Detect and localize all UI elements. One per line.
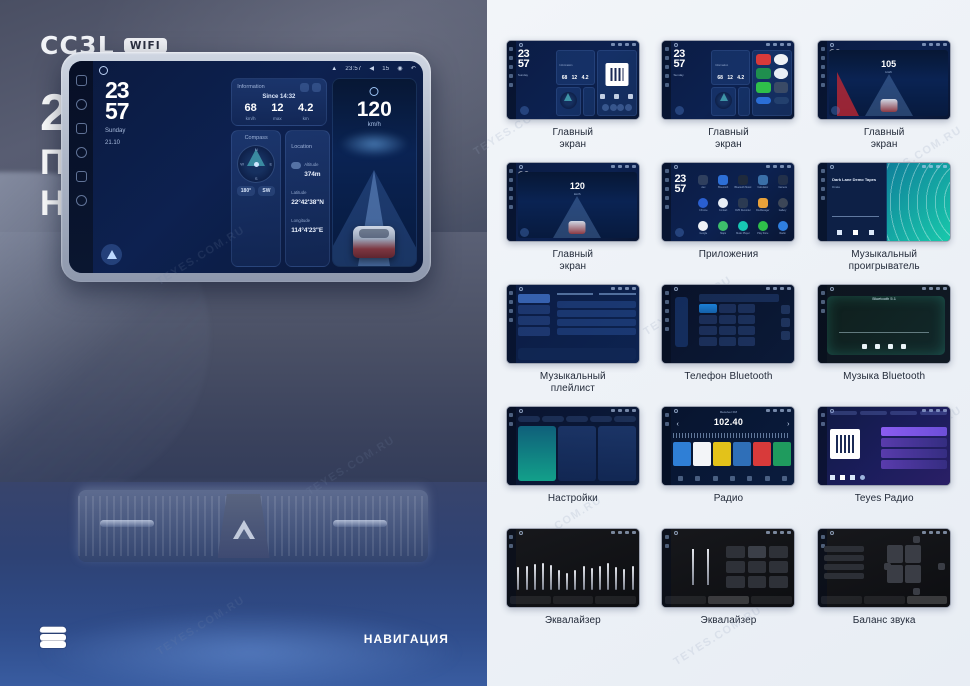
caption-line1: Баланс звука [853,615,916,626]
thumbnail-apps[interactable]: 2357 Aux Bluetooth Bluetooth Music Calcu… [661,162,795,242]
mini-speed-unit: km/h [885,70,892,74]
mini-speed-value: 120 [570,181,585,191]
preset-tile[interactable] [748,546,767,558]
widget-column-left: 23 57 Sunday 21.10 [99,78,226,267]
app-label: Contact [719,209,727,212]
caption-line2: плейлист [551,383,595,394]
play-pause-icon[interactable] [875,344,880,349]
layers-icon[interactable] [40,626,66,648]
tab[interactable] [890,411,917,415]
dialpad-key-4[interactable] [699,315,716,324]
mini-speed-unit: km/h [574,192,581,196]
trip-stat-distance: 4.2 km [298,103,313,121]
app-icon[interactable] [774,82,789,93]
preset-2[interactable] [693,442,711,466]
tab[interactable] [599,293,635,295]
next-icon[interactable] [869,230,874,235]
mini-nav-button[interactable] [520,106,529,115]
car-3d-model [353,226,395,258]
progress-bar[interactable] [832,216,879,217]
information-header: Information [237,83,320,92]
speaker-balance-pad[interactable] [887,545,921,583]
caption-line2: экран [560,261,587,272]
next-icon[interactable] [850,475,855,480]
dialpad-key-8[interactable] [719,326,736,335]
car-interior-backdrop [0,232,487,686]
thumbnail-radio[interactable]: Receiver FM 102.40 ‹ › [661,406,795,486]
radio-presets[interactable] [673,442,791,466]
dialpad-key-1[interactable] [699,304,716,313]
dialpad-key-3[interactable] [738,304,755,313]
longitude-value: 114°4'23"E [291,227,324,234]
app-icon[interactable] [774,68,789,79]
app-label: Google [700,232,708,235]
thumbnail-home-apps[interactable]: 2357Sunday Information68124.2 [661,40,795,120]
app-tile: FileManager [754,195,772,216]
gallery-item[interactable]: 2357 Aux Bluetooth Bluetooth Music Calcu… [651,162,807,284]
hazard-triangle-icon [233,520,255,539]
bt-music-controls[interactable] [818,344,950,349]
stat-unit: km [298,116,313,121]
wifi-card[interactable] [518,426,556,481]
mini-nav-button[interactable] [520,228,529,237]
mini-clock-minutes: 57 [518,60,554,70]
next-icon[interactable] [628,94,633,99]
thumbnail-equalizer-bars[interactable] [506,528,640,608]
tab-eq[interactable] [665,596,706,604]
playlist-tabs[interactable] [557,293,636,298]
trip-stats: 68 km/h 12 max 4.2 km [237,103,320,121]
information-refresh-icon[interactable] [312,83,321,92]
station-artwork [830,429,860,459]
dialpad-key-6[interactable] [738,315,755,324]
navigation-button[interactable] [101,244,122,265]
head-unit-device: ▲ 23:57 ◀ 15 ◉ ↶ 23 57 Sunda [61,52,431,282]
next-icon[interactable] [901,344,906,349]
teyes-radio-controls[interactable] [830,475,865,480]
compass-title: Compass [245,135,268,141]
tab-about[interactable] [614,416,636,422]
gallery-item[interactable]: Teyes Радио [806,406,962,528]
station-row[interactable] [881,449,947,458]
app-label: Radio [779,232,785,235]
prev-icon[interactable] [837,230,842,235]
track-list[interactable] [557,301,636,335]
search-icon[interactable] [695,476,700,481]
stat-unit: km/h [244,116,256,121]
balance-presets[interactable] [824,546,864,579]
app-icon[interactable] [774,54,789,65]
tab-balance[interactable] [708,596,749,604]
backspace-icon[interactable] [781,318,790,327]
tab-reset[interactable] [907,596,948,604]
cloud-icon [291,162,301,169]
app-tile: Contact [714,195,732,216]
tab[interactable] [830,411,857,415]
compass-direction: SW [258,186,276,196]
speed-icon [370,87,379,96]
station-row[interactable] [881,460,947,469]
radio-band-label: Receiver FM [720,410,737,414]
caption-line1: Приложения [699,249,759,260]
app-label: Gallery [779,209,787,212]
navigation-arrow-icon [107,250,117,259]
app-tile: Maps [714,217,732,238]
track-row[interactable] [557,328,636,335]
phone-side-nav[interactable] [675,297,688,347]
dialpad-key-hash[interactable] [738,337,755,346]
gallery-item[interactable]: Музыкальныйплейлист [495,284,651,406]
preset-tile[interactable] [769,546,788,558]
preset-3[interactable] [713,442,731,466]
slider[interactable] [692,549,694,585]
dialpad-key-5[interactable] [719,315,736,324]
station-list[interactable] [881,427,947,469]
gallery-item[interactable]: Эквалайзер [651,528,807,650]
dialpad-key-0[interactable] [719,337,736,346]
dialpad-key-9[interactable] [738,326,755,335]
thumbnail-home-media[interactable]: 2357Sunday Information68124.2 [506,40,640,120]
app-tile: Google [694,217,712,238]
stat-value: 68 [244,103,256,114]
phone-actions[interactable] [781,305,790,340]
mini-stat: 4.2 [582,75,589,81]
gallery-item[interactable]: Телефон Bluetooth [651,284,807,406]
category-item[interactable] [518,316,550,325]
tab-wifi[interactable] [518,416,540,422]
dialpad[interactable] [699,304,754,346]
category-item[interactable] [518,294,550,303]
gallery-item[interactable]: Receiver FM 102.40 ‹ › Радио [651,406,807,528]
thumbnail-teyes-radio[interactable] [817,406,951,486]
thumbnail-home-drive[interactable]: 2357Sunday Information68124.2 105km/h [817,40,951,120]
app-icon[interactable] [756,54,771,65]
track-row[interactable] [557,301,636,308]
preset-5[interactable] [753,442,771,466]
list-icon[interactable] [713,476,718,481]
teyes-radio-tabs[interactable] [830,411,947,416]
longitude-label: Longitude [291,218,310,223]
tab-display[interactable] [566,416,588,422]
speed-value: 120 [357,99,392,120]
preset-tile[interactable] [726,561,745,573]
trip-since: Since 14:32 [237,94,320,100]
thumbnail-caption: Главныйэкран [708,127,749,151]
settings-tabs[interactable] [518,416,636,422]
compass-center-dot [254,162,259,167]
car-3d-model [569,221,586,234]
play-icon[interactable] [614,94,619,99]
tab-reset[interactable] [751,596,792,604]
thumbnail-sound-balance[interactable] [817,528,951,608]
mini-speed-value: 105 [881,59,896,69]
back-icon[interactable]: ↶ [411,65,416,72]
preset-grid[interactable] [726,546,788,588]
information-title: Information [237,84,265,90]
caption-line2: проигрыватель [849,261,920,272]
car-3d-model [880,99,897,112]
preset-row[interactable] [824,555,864,561]
volume-icon: ◀ [369,65,374,72]
caption-line1: Главный [864,127,905,138]
thumbnail-bluetooth-music[interactable]: Bluetooth 5.1 [817,284,951,364]
preset-tile[interactable] [769,576,788,588]
thumbnail-caption: Эквалайзер [545,615,601,627]
gallery-item[interactable]: 2357Sunday Information68124.2 Главныйэкр… [495,40,651,162]
app-label: DVR Recorder [735,209,751,212]
rail-power-icon[interactable] [76,195,87,206]
app-label: Camera [778,186,787,189]
app-label: Music Player [736,232,750,235]
road-warning-wedge [837,72,859,116]
tune-down-icon[interactable]: ‹ [676,421,678,428]
radio-frequency: 102.40 [714,417,743,427]
thumbnail-playlist[interactable] [506,284,640,364]
tab-eq[interactable] [821,596,862,604]
speed-unit: km/h [368,122,381,128]
progress-bar[interactable] [839,332,929,333]
balance-up-button[interactable] [913,536,920,543]
mini-stat: 12 [572,75,578,81]
location-title: Location [291,144,312,150]
station-row[interactable] [881,438,947,447]
balance-down-button[interactable] [913,588,920,595]
mini-info-title: Information [560,64,573,67]
clock-date: 21.10 [105,139,222,147]
preset-6[interactable] [773,442,791,466]
gallery-item[interactable]: Настройки [495,406,651,528]
call-icon[interactable] [781,331,790,340]
app-tile: Play Store [754,217,772,238]
equalizer-tabs[interactable] [510,596,636,604]
wifi-badge: WIFI [124,38,167,54]
mini-info-title: Information [715,64,728,67]
track-title: Dark Lane Demo Tapes [832,177,881,182]
thumbnail-home-drive2[interactable]: 2357Sunday Information68124.2 120km/h [506,162,640,242]
caption-line1: Главный [708,127,749,138]
rail-menu-icon[interactable] [76,75,87,86]
home-icon[interactable] [99,66,108,75]
caption-line1: Эквалайзер [545,615,601,626]
equalizer-sliders[interactable] [517,551,633,590]
vent-slot-left [100,520,154,527]
slider[interactable] [707,549,709,585]
track-row[interactable] [557,310,636,317]
thumbnail-bluetooth-phone[interactable] [661,284,795,364]
gallery-item[interactable]: Dark Lane Demo Tapes Drake Музыкальныйпр… [806,162,962,284]
altitude-label: Altitude [304,162,318,167]
equalizer-tabs[interactable] [821,596,947,604]
tab-system[interactable] [590,416,612,422]
balance-right-button[interactable] [938,563,945,570]
app-tile: Bluetooth Music [734,172,752,193]
rail-home-icon[interactable] [76,99,87,110]
widget-column-right: 120 km/h [332,78,417,267]
app-tile: Calculator [754,172,772,193]
tune-up-icon[interactable]: › [787,421,789,428]
clock-widget: 23 57 Sunday 21.10 [99,78,226,147]
tab[interactable] [557,293,593,295]
rail-back-icon[interactable] [76,171,87,182]
gallery-item[interactable]: 2357Sunday Information68124.2 [651,40,807,162]
dialed-number-field[interactable] [699,294,778,302]
app-tile: Chrome [694,195,712,216]
latitude-label: Latitude [291,190,306,195]
prev-icon[interactable] [830,475,835,480]
rail-volume-icon[interactable] [76,147,87,158]
app-tile: Radio [774,217,792,238]
preset-row[interactable] [824,573,864,579]
app-label: Aux [701,186,705,189]
stereo-icon[interactable] [747,476,752,481]
tab-eq[interactable] [510,596,551,604]
preset-tile[interactable] [769,561,788,573]
head-unit-screen[interactable]: ▲ 23:57 ◀ 15 ◉ ↶ 23 57 Sunda [69,61,423,273]
thumbnail-equalizer-simple[interactable] [661,528,795,608]
media-controls[interactable] [598,94,636,99]
radio-toolbar[interactable] [673,475,791,482]
app-label: Bluetooth [718,186,728,189]
rail-apps-icon[interactable] [76,123,87,134]
gallery-item[interactable]: 2357Sunday Information68124.2 105km/h Гл… [806,40,962,162]
vent-slot-right [333,520,387,527]
gallery-item[interactable]: Баланс звука [806,528,962,650]
app-icon[interactable] [756,82,771,93]
driving-widget[interactable]: 120 km/h [332,78,417,267]
frequency-scale[interactable] [673,433,789,438]
station-row[interactable] [881,427,947,436]
stop-icon[interactable] [840,475,845,480]
compass-east-label: E [270,162,273,167]
tab-balance[interactable] [553,596,594,604]
thumbnail-caption: Главныйэкран [864,127,905,151]
app-label: Calculator [757,186,768,189]
compass-south-label: S [255,176,258,181]
app-grid[interactable]: Aux Bluetooth Bluetooth Music Calculator… [694,172,791,238]
player-controls[interactable] [832,230,879,235]
caption-line1: Teyes Радио [855,493,914,504]
band-icon[interactable] [678,476,683,481]
compass-widget[interactable]: Compass N S E W [231,130,281,267]
thumbnail-caption: Музыка Bluetooth [843,371,925,383]
dialpad-key-star[interactable] [699,337,716,346]
preset-1[interactable] [673,442,691,466]
preset-row[interactable] [824,546,864,552]
app-tile: Bluetooth [714,172,732,193]
preset-4[interactable] [733,442,751,466]
preset-tile[interactable] [726,576,745,588]
prev-icon[interactable] [600,94,605,99]
navigation-label: НАВИГАЦИЯ [364,632,449,646]
gallery-item[interactable]: 2357Sunday Information68124.2 120km/h Гл… [495,162,651,284]
gallery-item[interactable]: Эквалайзер [495,528,651,650]
speaker-fr[interactable] [905,545,921,563]
prev-icon[interactable] [862,344,867,349]
caption-line1: Музыкальный [540,371,606,382]
bass-treble-sliders[interactable] [686,549,715,585]
thumbnail-caption: Главныйэкран [553,127,594,151]
mini-stat: 68 [717,75,723,81]
thumbnail-music-player[interactable]: Dark Lane Demo Tapes Drake [817,162,951,242]
speaker-rr[interactable] [905,565,921,583]
tab-reset[interactable] [595,596,636,604]
tab[interactable] [860,411,887,415]
preset-tile[interactable] [748,576,767,588]
loc-icon[interactable] [765,476,770,481]
settings-icon[interactable] [782,476,787,481]
location-longitude-row: Longitude 114°4'23"E [291,209,324,234]
home-widgets: 23 57 Sunday 21.10 Information [99,65,417,267]
information-settings-icon[interactable] [300,83,309,92]
status-bar: ▲ 23:57 ◀ 15 ◉ ↶ [331,65,416,72]
app-label: Chrome [699,209,708,212]
pause-icon[interactable] [853,230,858,235]
tab[interactable] [920,411,947,415]
app-icon[interactable] [756,68,771,79]
eq-icon[interactable] [730,476,735,481]
location-widget[interactable]: Location Altitude 374m [285,130,330,267]
dialpad-key-7[interactable] [699,326,716,335]
preset-tile[interactable] [748,561,767,573]
status-time: 23:57 [345,66,361,72]
stop-icon[interactable] [888,344,893,349]
app-label: FileManager [756,209,769,212]
speaker-fl[interactable] [887,545,903,563]
thumbnail-caption: Главныйэкран [553,249,594,273]
now-playing-bar[interactable] [518,348,636,360]
gallery-item[interactable]: Bluetooth 5.1 Музыка Bluetooth [806,284,962,406]
album-art [605,63,628,86]
mini-clock-minutes: 57 [674,185,685,195]
track-row[interactable] [557,319,636,326]
screenshot-gallery: TEYES.COM.RU TEYES.COM.RU TEYES.COM.RU T… [487,0,970,686]
thumbnail-settings[interactable] [506,406,640,486]
preset-tile[interactable] [726,546,745,558]
carplay-card[interactable] [558,426,596,481]
playlist-categories[interactable] [518,294,550,336]
app-tile: Music Player [734,217,752,238]
dialpad-key-2[interactable] [719,304,736,313]
compass-dial: N S E W [237,145,275,183]
compass-readouts: 180° SW [237,186,275,196]
information-widget[interactable]: Information Since 14:32 68 [231,78,326,126]
widget-column-middle: Information Since 14:32 68 [231,78,326,267]
location-icon: ◉ [397,65,402,72]
head-unit-content: ▲ 23:57 ◀ 15 ◉ ↶ 23 57 Sunda [93,61,423,273]
compass-north-label: N [255,147,258,152]
settings-cards[interactable] [518,426,636,481]
tab-sound[interactable] [542,416,564,422]
caption-line1: Телефон Bluetooth [684,371,772,382]
favorite-icon[interactable] [860,475,865,480]
mini-stat: 4.2 [737,75,744,81]
caption-line2: экран [715,139,742,150]
side-rail-nav[interactable] [69,61,93,273]
stat-value: 4.2 [298,103,313,114]
category-item[interactable] [518,305,550,314]
more-card[interactable] [598,426,636,481]
caption-line2: экран [560,139,587,150]
balance-left-button[interactable] [884,563,891,570]
thumbnail-caption: Телефон Bluetooth [684,371,772,383]
favorite-icon[interactable] [781,305,790,314]
equalizer-tabs[interactable] [665,596,791,604]
stat-value: 12 [271,103,283,114]
tab-balance[interactable] [864,596,905,604]
category-item[interactable] [518,327,550,336]
road-horizon-glow [339,131,409,157]
preset-row[interactable] [824,564,864,570]
